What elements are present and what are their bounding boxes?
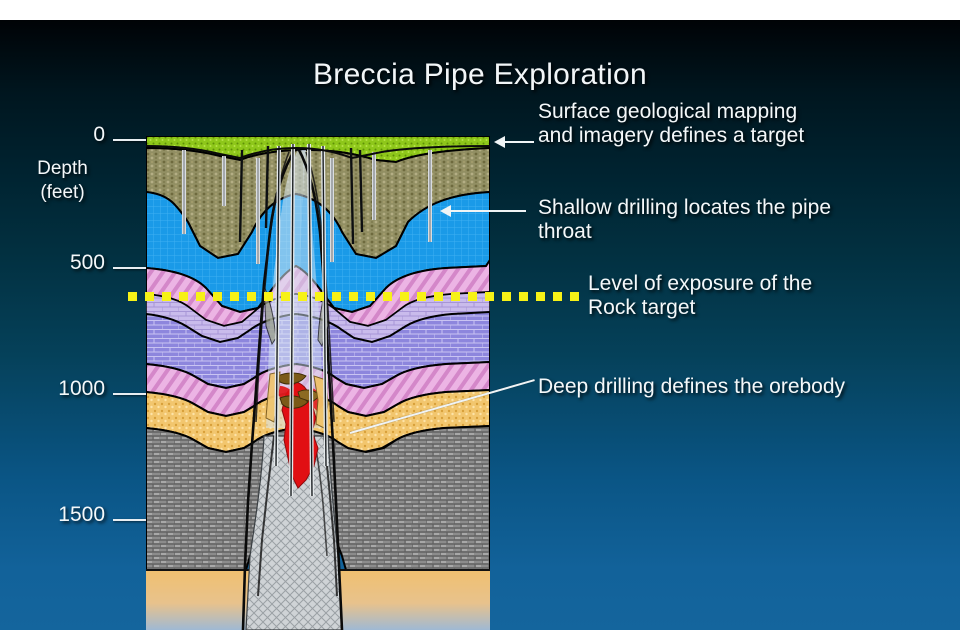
- annotation-surface-mapping-line2: and imagery defines a target: [538, 124, 938, 148]
- annotation-exposure-level-line1: Level of exposure of the: [588, 272, 948, 296]
- depth-tick-label-0: 0: [20, 123, 105, 147]
- annotation-exposure-level-line2: Rock target: [588, 296, 948, 320]
- arrow-shaft: [448, 210, 526, 212]
- depth-tick-label-1500: 1500: [20, 503, 105, 527]
- exposure-level-dotted-line: [128, 292, 580, 301]
- geologic-cross-section: [146, 136, 490, 630]
- annotation-deep-drilling-line1: Deep drilling defines the orebody: [538, 375, 948, 399]
- annotation-deep-drilling: Deep drilling defines the orebody: [538, 375, 948, 399]
- depth-axis-caption-line2: (feet): [20, 182, 105, 203]
- depth-axis-caption-line1: Depth: [20, 158, 105, 179]
- annotation-shallow-drilling: Shallow drilling locates the pipe throat: [538, 196, 938, 245]
- slide-canvas: Breccia Pipe Exploration 0 Depth (feet) …: [0, 0, 960, 630]
- depth-tick-mark-500: [113, 267, 149, 269]
- annotation-exposure-level: Level of exposure of the Rock target: [588, 272, 948, 321]
- depth-tick-mark-0: [113, 139, 149, 141]
- annotation-shallow-drilling-line2: throat: [538, 220, 938, 244]
- depth-tick-mark-1000: [113, 393, 149, 395]
- arrow-shaft: [502, 141, 534, 143]
- depth-tick-label-1000: 1000: [20, 377, 105, 401]
- annotation-surface-mapping: Surface geological mapping and imagery d…: [538, 100, 938, 149]
- annotation-shallow-drilling-line1: Shallow drilling locates the pipe: [538, 196, 938, 220]
- slide-title: Breccia Pipe Exploration: [0, 58, 960, 92]
- depth-tick-mark-1500: [113, 519, 149, 521]
- depth-tick-label-500: 500: [20, 251, 105, 275]
- annotation-surface-mapping-line1: Surface geological mapping: [538, 100, 938, 124]
- top-white-band: [0, 0, 960, 20]
